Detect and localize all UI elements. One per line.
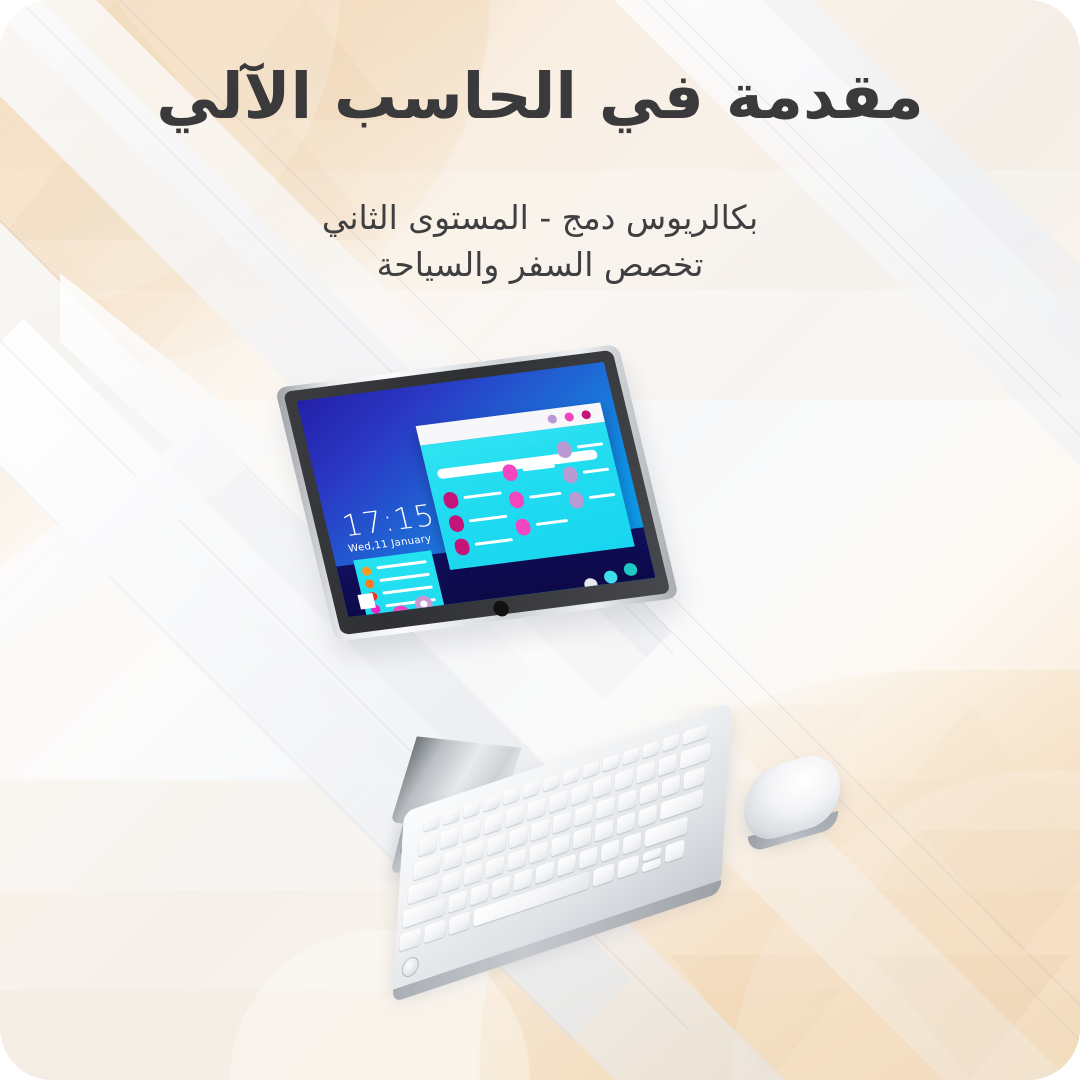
list-pill [453, 538, 471, 556]
list-row-line [463, 491, 502, 499]
list-pill [561, 466, 579, 484]
list-row-line [529, 492, 562, 499]
sidebar-dot [361, 566, 372, 576]
window-dot-close[interactable] [581, 410, 592, 420]
workstation-illustration: 17:15 Wed,11 January [0, 0, 1080, 1080]
page-title: مقدمة في الحاسب الآلي [0, 62, 1080, 131]
list-pill [567, 491, 585, 509]
monitor-screen: 17:15 Wed,11 January [297, 362, 656, 617]
list-row-line [583, 468, 610, 474]
mouse[interactable] [743, 747, 842, 847]
list-pill [508, 491, 526, 509]
page-subtitle: بكالريوس دمج - المستوى الثاني تخصص السفر… [0, 195, 1080, 289]
subtitle-line-2: تخصص السفر والسياحة [0, 242, 1080, 289]
window-dot-maximize[interactable] [564, 412, 575, 422]
mouse-shell [743, 747, 842, 847]
list-row-line [475, 538, 514, 546]
window-dot-minimize[interactable] [547, 414, 558, 424]
screen-app-window[interactable] [416, 402, 635, 570]
list-row-line [536, 519, 569, 526]
computer-monitor: 17:15 Wed,11 January [283, 350, 671, 635]
sidebar-line [379, 573, 430, 582]
app-window-body [420, 422, 634, 570]
screen-clock-widget: 17:15 Wed,11 January [340, 502, 441, 554]
taskbar-start-button[interactable] [357, 593, 375, 610]
sidebar-line [382, 585, 433, 594]
sidebar-dot [364, 579, 375, 589]
sidebar-line [376, 560, 427, 569]
subtitle-line-1: بكالريوس دمج - المستوى الثاني [0, 195, 1080, 242]
list-pill [442, 491, 460, 509]
list-pill [514, 518, 532, 536]
list-row-line [589, 493, 616, 499]
poster-canvas: مقدمة في الحاسب الآلي بكالريوس دمج - الم… [0, 0, 1080, 1080]
list-pill [448, 514, 466, 532]
list-row-line [577, 442, 604, 448]
list-row-line [469, 515, 508, 523]
